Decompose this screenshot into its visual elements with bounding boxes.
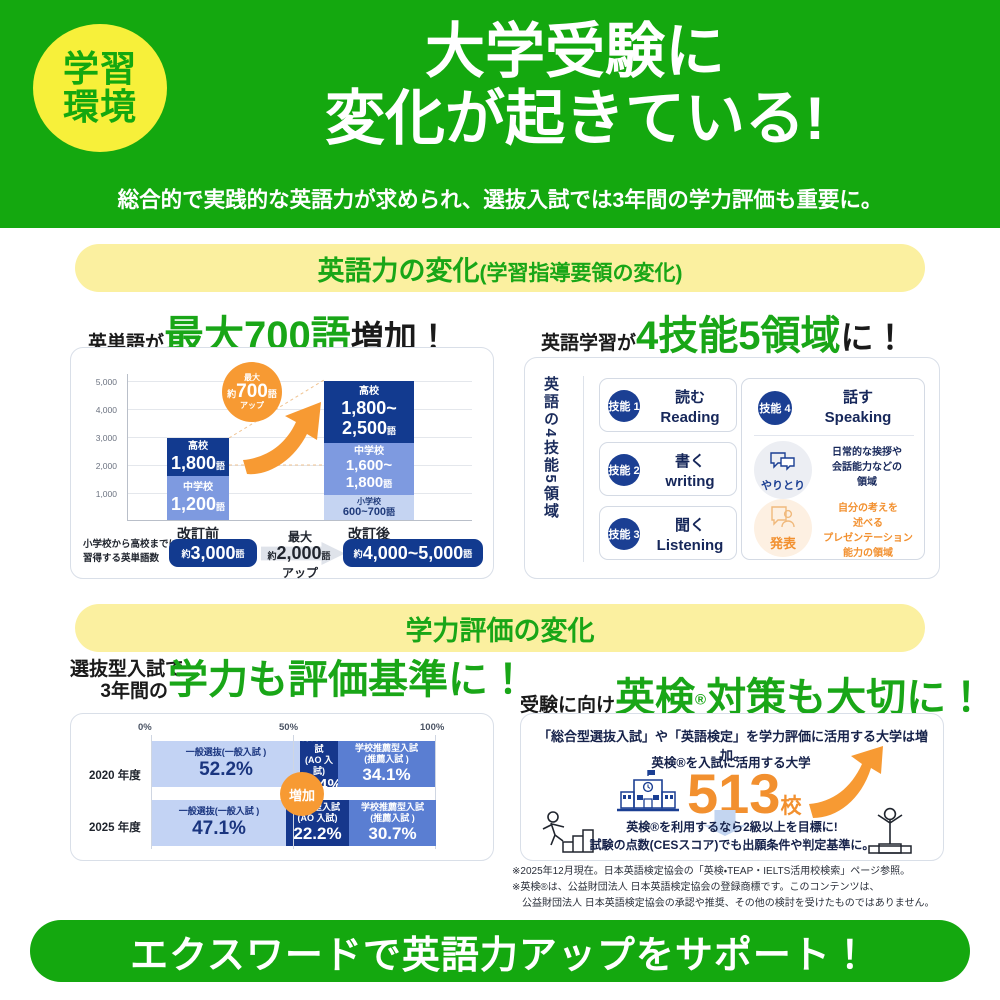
vocab-bar-before-highschool-value: 1,800語 [171,453,225,473]
page-title-line2: 変化が起きている! [180,85,970,152]
eiken-university-count: 513校 [687,766,801,822]
eiken-note-line2: 試験の点数(CESスコア)でも出願条件や判定基準に。 [587,836,877,853]
vocab-footer-after-value: 4,000~5,000 [363,543,464,564]
eiken-registered-icon: ® [695,692,706,709]
admission-2020-recommendation-label2: (推薦入試 ) [364,754,409,765]
skill-box-listening[interactable]: 技能 3 聞く Listening [599,506,737,560]
admission-2025-recommendation: 学校推薦型入試 (推薦入試 ) 30.7% [349,800,436,846]
interaction-label: やりとり [754,477,812,493]
skills-subhead-pre: 英語学習が [541,333,636,354]
skill-box-speaking[interactable]: 技能 4 話す Speaking やりとり 日常的な挨拶や 会話能力などの 領域… [741,378,925,560]
interaction-desc-l1: 日常的な挨拶や [832,447,902,458]
bottom-cta-text: エクスワードで英語力アップをサポート！ [130,924,870,979]
vocab-bar-after-highschool-value2: 2,500語 [342,418,396,438]
admission-subhead-l2: 3年間の [100,681,168,702]
vocab-ytick-5000: 5,000 [83,377,117,387]
vocab-footer-before-unit: 語 [236,547,245,560]
vocab-ytick-4000: 4,000 [83,405,117,415]
vocab-footer-caption: 小学校から高校までに 習得する英単語数 [83,538,179,566]
skills-subhead: 英語学習が4技能5領域に！ [541,303,907,361]
skill-4-badge: 技能 4 [758,391,792,425]
vocab-bar-after-highschool: 高校 1,800~ 2,500語 [324,381,414,443]
infographic-page: 学習 環境 大学受験に 変化が起きている! 総合的で実践的な英語力が求められ、選… [0,0,1000,1000]
section2-title: 学力評価の変化 [406,609,595,648]
skill-3-en: Listening [646,536,734,556]
skill-box-writing[interactable]: 技能 2 書く writing [599,442,737,496]
presentation-desc-l4: 能力の領域 [843,548,893,559]
skills-vertical-title: 英語の4技能5領域 [543,376,558,562]
vocab-bar-after-juniorhigh: 中学校 1,600~ 1,800語 [324,443,414,495]
skill-2-en: writing [646,472,734,492]
skill-4-divider [754,435,914,436]
admission-xtick-50: 50% [279,722,298,733]
vocab-footer-after-unit: 語 [463,547,472,560]
vocab-bar-before-highschool-label: 高校 [188,441,208,453]
interaction-desc-l2: 会話能力などの [832,462,902,473]
gridline-5000 [127,381,472,382]
skill-2-badge: 技能 2 [608,454,640,486]
presentation-description: 自分の考えを 述べる プレゼンテーション 能力の領域 [816,501,920,561]
skill-box-reading[interactable]: 技能 1 読む Reading [599,378,737,432]
header-banner: 学習 環境 大学受験に 変化が起きている! 総合的で実践的な英語力が求められ、選… [0,0,1000,228]
admission-2020-recommendation-label1: 学校推薦型入試 [355,743,418,754]
category-badge-line2: 環境 [63,88,137,126]
vocab-bar-before-juniorhigh-label: 中学校 [183,482,213,494]
admission-year-2020: 2020 年度 [89,767,141,783]
vocab-bar-after-juniorhigh-value2: 1,800語 [346,475,393,492]
presentation-label: 発表 [754,533,812,552]
vocab-ytick-2000: 2,000 [83,461,117,471]
page-title: 大学受験に 変化が起きている! [180,18,970,152]
admission-2020-comprehensive-label1: 総合型入試 [300,732,338,755]
section2-title-pill: 学力評価の変化 [75,604,925,652]
vocab-footer-mid-value: 約2,000語 [257,543,341,564]
vocab-bar-after-juniorhigh-value1: 1,600~ [346,458,392,475]
vocab-footer-caption-l2: 習得する英単語数 [83,553,159,564]
admission-2020-general-label: 一般選抜(一般入試 ) [186,747,267,758]
admission-2025-recommendation-label1: 学校推薦型入試 [361,802,424,813]
speech-bubbles-icon [769,450,797,472]
presentation-desc-l2: 述べる [853,518,883,529]
vocab-ytick-1000: 1,000 [83,489,117,499]
admission-xtick-100: 100% [420,722,444,733]
section1-title: 英語力の変化(学習指導要領の変化) [318,249,683,288]
page-title-line1: 大学受験に [180,18,970,85]
admission-xtick-0: 0% [138,722,152,733]
vocab-footer-after-prefix: 約 [354,547,363,560]
vocab-footer-before-prefix: 約 [181,547,190,560]
admission-year-2025: 2025 年度 [89,819,141,835]
admission-2025-comprehensive-value: 22.2% [293,824,341,844]
admission-2020-recommendation: 学校推薦型入試 (推薦入試 ) 34.1% [338,741,435,787]
skill-1-text: 読む Reading [646,388,734,427]
bottom-cta-banner[interactable]: エクスワードで英語力アップをサポート！ [30,920,970,982]
skills-subhead-post: に！ [841,319,907,356]
vocab-bar-after-elementary: 小学校 600~700語 [324,495,414,520]
vocab-footer-caption-l1: 小学校から高校までに [83,539,178,550]
vocab-ytick-3000: 3,000 [83,433,117,443]
page-subtitle: 総合的で実践的な英語力が求められ、選抜入試では3年間の学力評価も重要に。 [60,183,940,214]
presenter-icon [770,505,796,529]
skills-vertical-divider [583,376,584,562]
footnote-line3: 公益財団法人 日本英語検定協会の承認や推奨、その他の検討を受けたものではありませ… [512,896,982,912]
eiken-footnotes: ※2025年12月現在。日本英語検定協会の「英検・TEAP・IELTS活用校検索… [512,864,982,913]
admission-2025-recommendation-value: 30.7% [368,824,416,844]
skills-subhead-highlight: 4技能5領域 [636,314,841,358]
vocab-footer-after-pill: 約4,000~5,000語 [343,539,483,567]
skills-card: 英語の4技能5領域 技能 1 読む Reading 技能 2 書く writin… [524,357,940,579]
admission-subhead-prefix: 選抜型入試で 3年間の [70,659,168,702]
category-badge-line1: 学習 [63,50,137,88]
skill-4-text: 話す Speaking [798,388,918,427]
vocab-bar-before-juniorhigh-value: 1,200語 [171,494,225,514]
skill-3-jp: 聞く [646,516,734,536]
vocab-bar-after-elementary-value: 600~700語 [343,506,395,518]
admission-chart-card: 0% 50% 100% 2020 年度 2025 年度 一般選抜(一般入試 ) … [70,713,494,861]
vocab-callout-main: 約700語 [227,382,277,402]
admission-subhead: 選抜型入試で 3年間の 学力も評価基準に！ [70,658,528,704]
admission-increase-badge: 増加 [280,772,324,816]
skill-2-text: 書く writing [646,452,734,491]
section1-title-pill: 英語力の変化(学習指導要領の変化) [75,244,925,292]
vocab-footer-mid-bottom: アップ [261,564,339,581]
vocab-footer-before-value: 3,000 [190,543,235,564]
skill-4-jp: 話す [798,388,918,408]
vocab-footer-before-pill: 約3,000語 [169,539,257,567]
vocab-bar-after-highschool-label: 高校 [359,386,379,398]
admission-2020-general-value: 52.2% [199,759,253,781]
skill-4-en: Speaking [798,408,918,428]
admission-2020-recommendation-value: 34.1% [362,765,410,785]
admission-2025-general-value: 47.1% [192,818,246,840]
skill-1-jp: 読む [646,388,734,408]
skill-1-badge: 技能 1 [608,390,640,422]
presentation-desc-l3: プレゼンテーション [823,533,913,544]
vocab-growth-arrow-icon [241,400,336,482]
presentation-desc-l1: 自分の考えを [838,503,898,514]
interaction-desc-l3: 領域 [857,477,877,488]
eiken-card: 「総合型選抜入試」や「英語検定」を学力評価に活用する大学は増加。 英検®を入試に… [520,713,944,861]
skill-1-en: Reading [646,408,734,428]
vocab-bar-after-highschool-value1: 1,800~ [341,398,397,418]
footnote-line1: ※2025年12月現在。日本英語検定協会の「英検・TEAP・IELTS活用校検索… [512,864,982,880]
admission-2025-recommendation-label2: (推薦入試 ) [370,813,415,824]
skill-3-badge: 技能 3 [608,518,640,550]
admission-2025-general: 一般選抜(一般入試 ) 47.1% [152,800,286,846]
eiken-note-line1: 英検®を利用するなら2級以上を目標に! [597,818,867,835]
section1-title-main: 英語力の変化 [318,256,480,286]
interaction-description: 日常的な挨拶や 会話能力などの 領域 [816,445,918,490]
vocab-bar-before-highschool: 高校 1,800語 [167,438,229,476]
vocab-x-axis [127,520,472,521]
skill-2-jp: 書く [646,452,734,472]
vocab-bar-after-elementary-label: 小学校 [357,497,381,507]
skill-3-text: 聞く Listening [646,516,734,555]
vocab-chart-card: 5,000 4,000 3,000 2,000 1,000 高校 1,800語 … [70,347,494,579]
footnote-line2: ※英検®は、公益財団法人 日本英語検定協会の登録商標です。このコンテンツは、 [512,880,982,896]
school-building-icon [617,768,679,814]
admission-subhead-l1: 選抜型入試で [70,659,184,680]
category-badge: 学習 環境 [33,24,167,152]
admission-subhead-highlight: 学力も評価基準に！ [168,658,528,702]
vocab-bar-before-juniorhigh: 中学校 1,200語 [167,476,229,520]
admission-2025-general-label: 一般選抜(一般入試 ) [179,806,260,817]
section1-title-sub: (学習指導要領の変化) [480,262,683,285]
admission-2020-general: 一般選抜(一般入試 ) 52.2% [152,741,300,787]
vocab-y-axis [127,374,128,521]
